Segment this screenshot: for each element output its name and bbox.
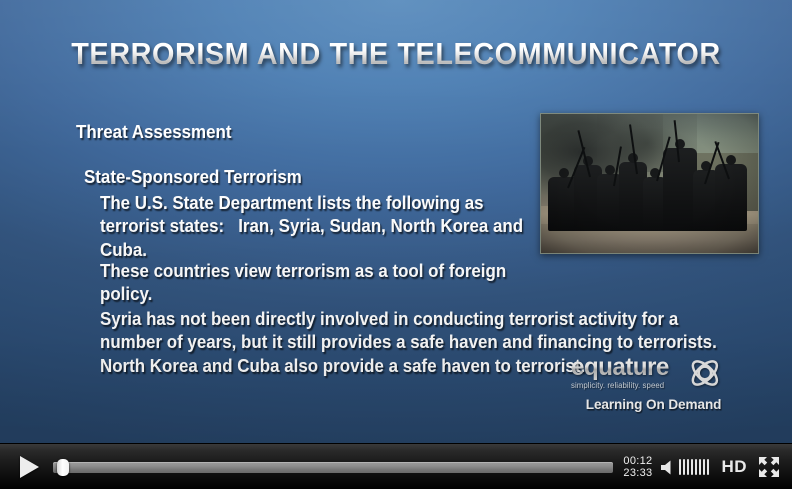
total-time: 23:33 <box>623 467 652 479</box>
photo-vignette <box>541 114 758 253</box>
time-display: 00:12 23:33 <box>623 455 652 479</box>
volume-bar[interactable] <box>679 459 681 475</box>
volume-bar[interactable] <box>683 459 685 475</box>
player-control-bar: 00:12 23:33 HD <box>0 443 792 489</box>
play-button[interactable] <box>14 452 44 482</box>
logo-subtitle: Learning On Demand <box>571 396 721 412</box>
logo-tagline: simplicity. reliability. speed <box>571 381 669 390</box>
play-icon <box>20 456 39 478</box>
volume-bar[interactable] <box>699 459 701 475</box>
seek-handle[interactable] <box>57 459 69 476</box>
equature-logo: equature simplicity. reliability. speed … <box>571 355 721 412</box>
heading-threat-assessment: Threat Assessment <box>76 121 231 144</box>
logo-wordmark: equature <box>571 355 669 380</box>
orbital-atom-icon <box>688 356 721 390</box>
seek-bar[interactable] <box>53 461 613 473</box>
hd-toggle-button[interactable]: HD <box>721 457 747 477</box>
volume-bar[interactable] <box>691 459 693 475</box>
volume-bar[interactable] <box>703 459 705 475</box>
current-time: 00:12 <box>623 455 652 467</box>
fullscreen-icon[interactable] <box>759 457 779 477</box>
slide-title: TERRORISM AND THE TELECOMMUNICATOR <box>28 36 765 72</box>
volume-control[interactable] <box>661 459 709 475</box>
volume-bar[interactable] <box>687 459 689 475</box>
volume-bar[interactable] <box>707 459 709 475</box>
slide-photo-militants <box>540 113 759 254</box>
video-player: TERRORISM AND THE TELECOMMUNICATOR Threa… <box>0 0 792 489</box>
heading-state-sponsored-terrorism: State-Sponsored Terrorism <box>84 166 302 189</box>
paragraph-foreign-policy: These countries view terrorism as a tool… <box>100 260 551 307</box>
seek-track[interactable] <box>53 462 613 473</box>
paragraph-terrorist-states: The U.S. State Department lists the foll… <box>100 192 542 262</box>
speaker-icon <box>661 460 675 475</box>
slide-canvas: TERRORISM AND THE TELECOMMUNICATOR Threa… <box>0 0 792 443</box>
volume-bar[interactable] <box>695 459 697 475</box>
